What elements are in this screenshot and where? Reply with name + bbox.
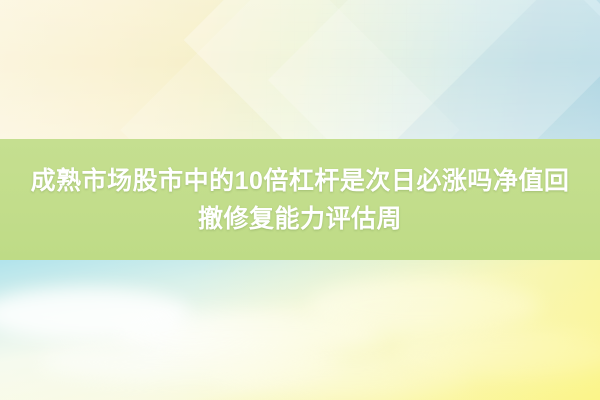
- title-band: 成熟市场股市中的10倍杠杆是次日必涨吗净值回撤修复能力评估周: [0, 139, 600, 260]
- promo-banner-card: 成熟市场股市中的10倍杠杆是次日必涨吗净值回撤修复能力评估周: [0, 0, 600, 400]
- top-panel-sheen: [0, 0, 600, 140]
- bottom-sky-panel: [0, 260, 600, 400]
- top-gradient-panel: [0, 0, 600, 140]
- bottom-warm-glow: [0, 260, 600, 400]
- banner-title: 成熟市场股市中的10倍杠杆是次日必涨吗净值回撤修复能力评估周: [22, 162, 578, 238]
